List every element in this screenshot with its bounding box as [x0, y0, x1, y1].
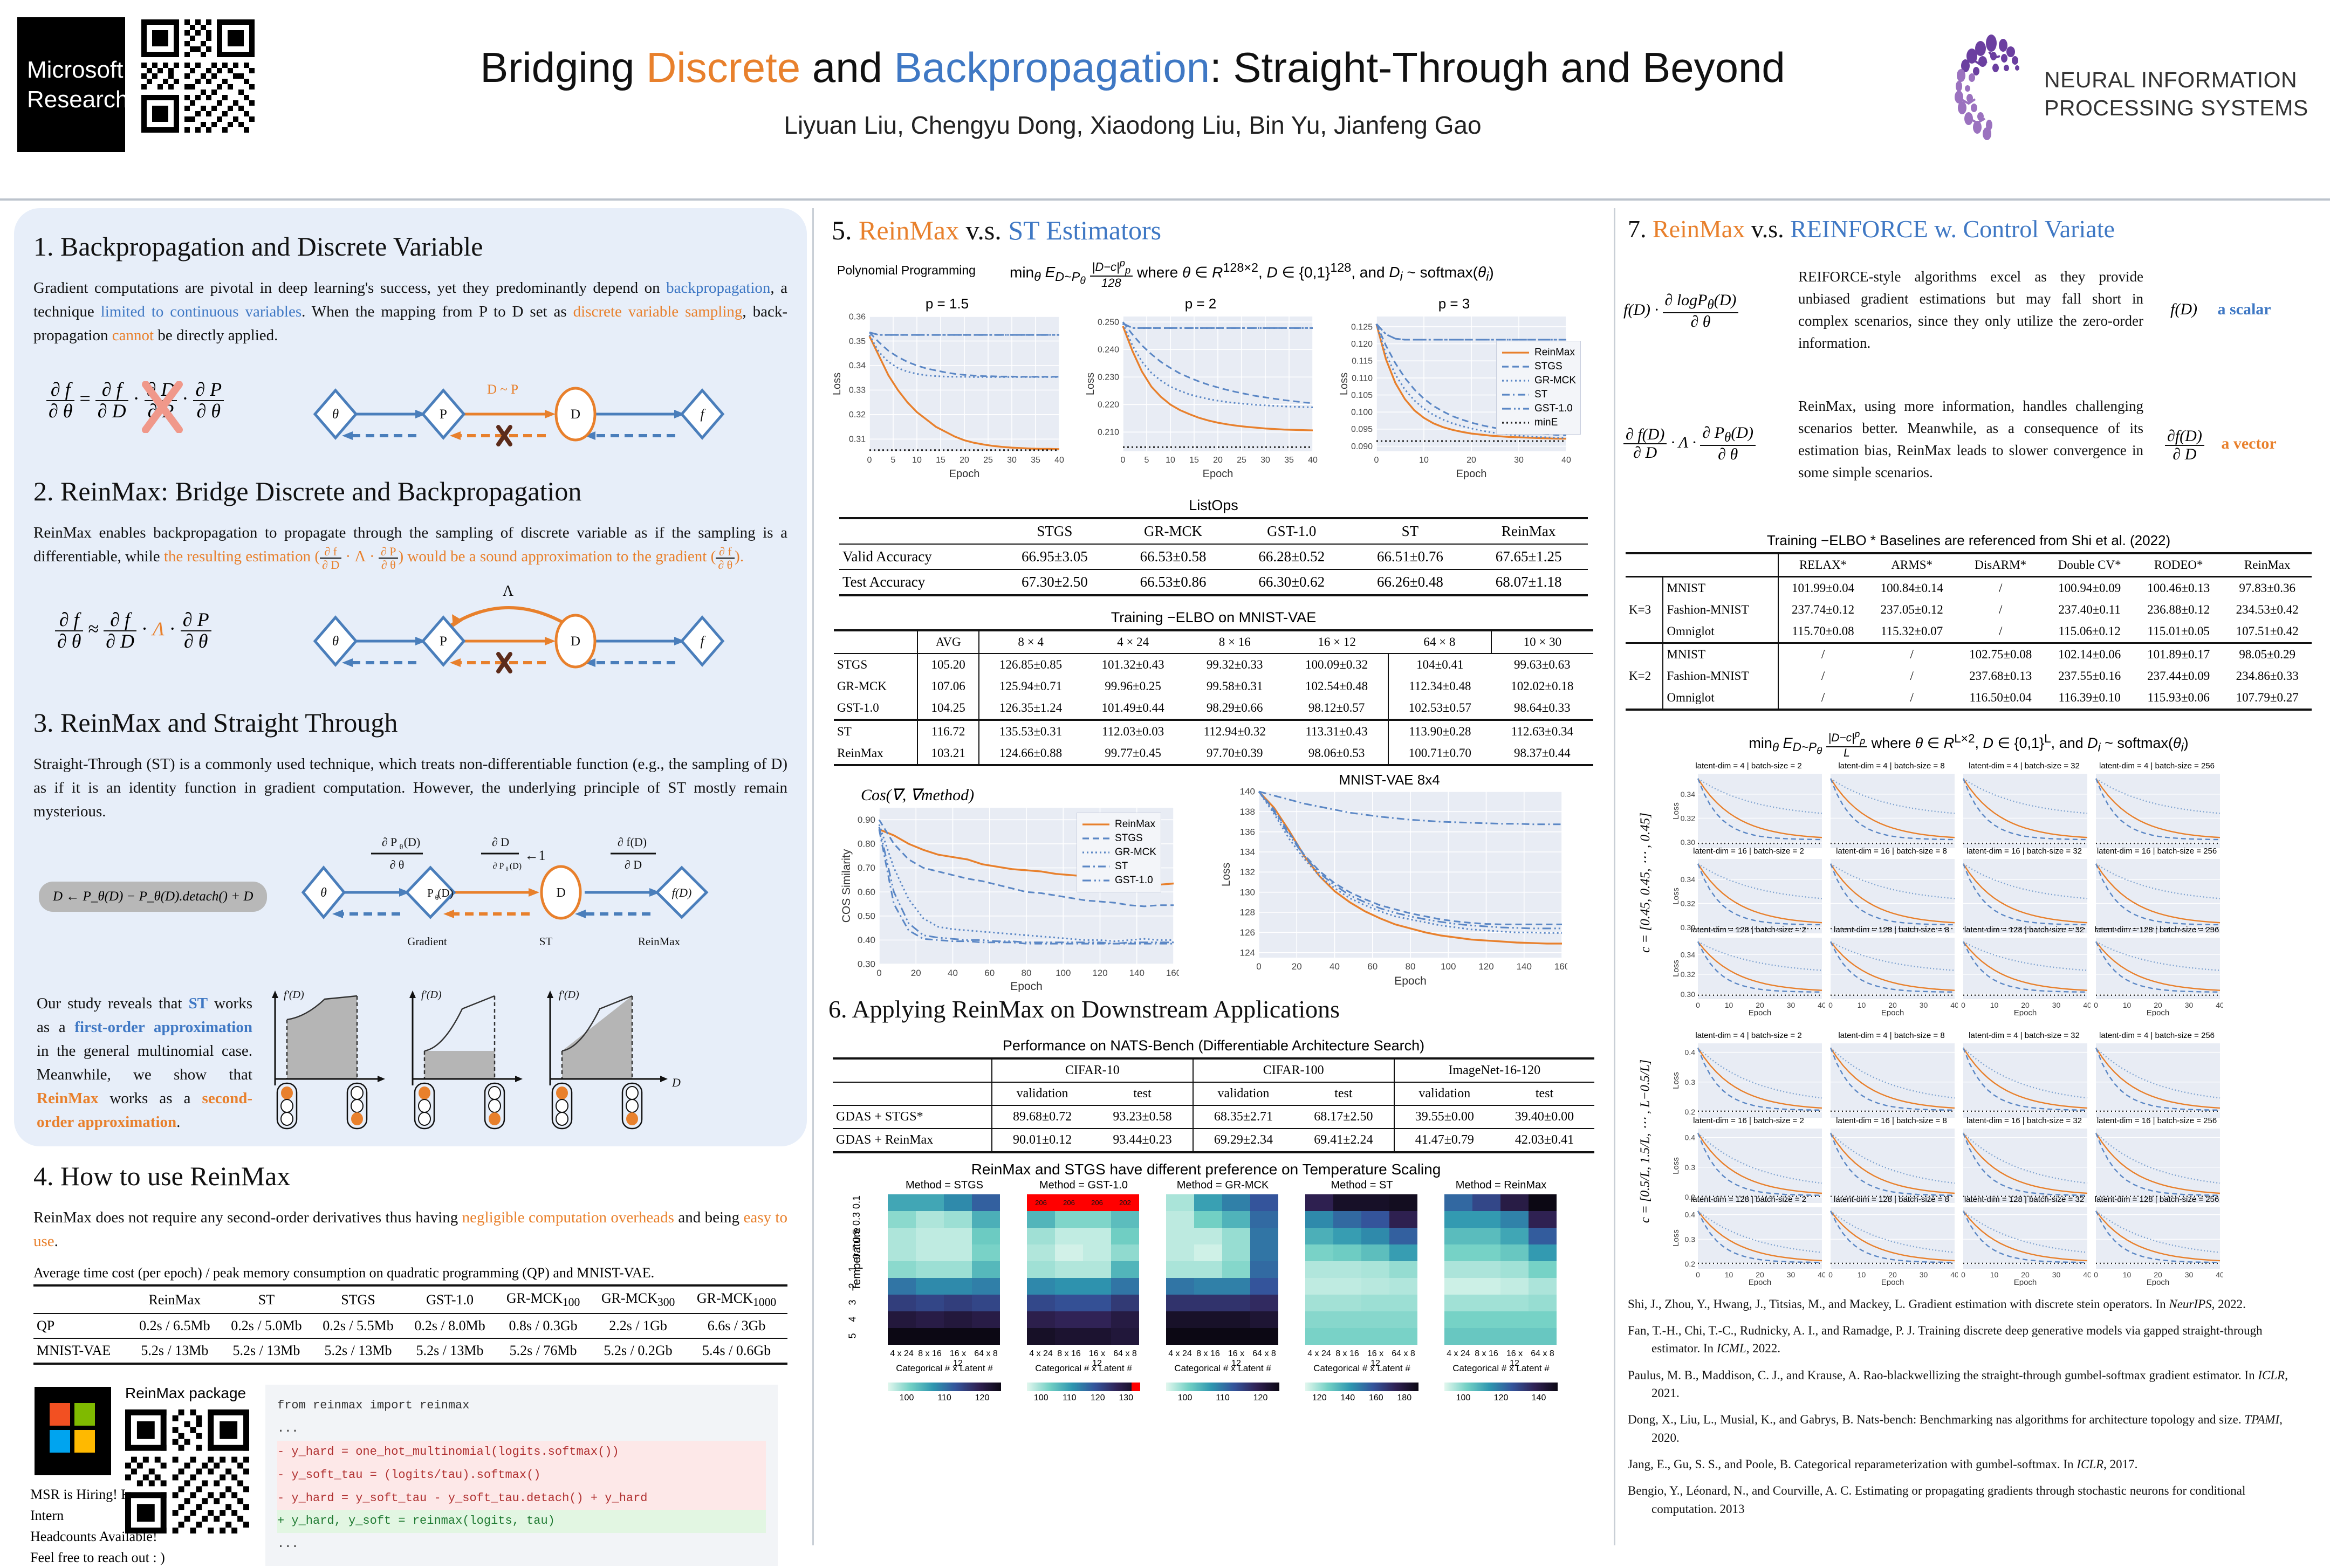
elbo-col-1: AVG	[917, 630, 979, 654]
heatmap-cell-1-8-1	[1055, 1328, 1083, 1345]
legend-item-ReinMax: ReinMax	[1501, 347, 1576, 359]
svg-text:∂ f(D): ∂ f(D)	[618, 835, 647, 849]
s7-col-1	[1663, 553, 1778, 577]
elbo-cell-3-7: 112.63±0.34	[1491, 720, 1593, 742]
svg-text:0.60: 0.60	[858, 887, 875, 897]
chart-title-1: p = 1.5	[828, 295, 1066, 312]
heatmap-cell-3-0-1	[1333, 1194, 1361, 1211]
s3-graph-diagram: ∂ Pθ(D) ∂ θ ∂ D ∂ Pθ(D) ←1 ∂ f(D) ∂ D	[265, 832, 751, 988]
svg-text:10: 10	[1725, 1001, 1733, 1009]
mini-plot-top-0: latent-dim = 4 | batch-size = 20.340.320…	[1672, 761, 1825, 852]
heatmap-cell-3-7-3	[1389, 1311, 1417, 1328]
s7-cell-0-0-6: 97.83±0.36	[2223, 577, 2312, 600]
svg-text:ST: ST	[539, 935, 553, 948]
heatmap-cell-1-4-0	[1027, 1261, 1055, 1278]
s7-cell-0-2-2: 115.32±0.07	[1867, 621, 1956, 643]
mnist-vae-chart: MNIST-VAE 8x4124126128130132134136138140…	[1211, 772, 1567, 987]
cost-cell-0-2: 0.2s / 5.0Mb	[221, 1313, 312, 1338]
heatmap-cell-0-3-1	[916, 1244, 944, 1261]
neurips-wordmark: NEURAL INFORMATION PROCESSING SYSTEMS	[2044, 66, 2308, 122]
legend-label-ST: ST	[1534, 389, 1547, 401]
elbo-cell-4-3: 99.77±0.45	[1082, 742, 1184, 765]
table-row: GDAS + STGS*89.68±0.7293.23±0.5868.35±2.…	[833, 1105, 1594, 1129]
legend-item-ST: ST	[1501, 389, 1576, 401]
heatmap-title: ReinMax and STGS have different preferen…	[818, 1161, 1594, 1178]
references-list: Shi, J., Zhou, Y., Hwang, J., Titsias, M…	[1628, 1295, 2310, 1518]
heatmap-cell-2-6-1	[1194, 1295, 1222, 1311]
heatmap-method-3: Method = ST	[1305, 1179, 1418, 1192]
svg-text:40: 40	[1818, 1001, 1825, 1009]
listops-cell-0-3: 66.28±0.52	[1232, 544, 1351, 569]
legend-label-ReinMax: ReinMax	[1534, 347, 1575, 359]
s7-elbo-block: Training −ELBO * Baselines are reference…	[1626, 532, 2312, 711]
svg-text:10: 10	[1858, 1270, 1866, 1279]
cost-cell-0-4: 0.2s / 8.0Mb	[404, 1313, 496, 1338]
heatmap-xlabel-0: Categorical # x Latent #	[880, 1363, 1009, 1374]
s1-text-e: . When the mapping from P to D set as	[301, 303, 573, 320]
heatmap-cell-3-5-3	[1389, 1278, 1417, 1295]
elbo-cell-4-7: 98.37±0.44	[1491, 742, 1593, 765]
s7-cell-1-0-0: MNIST	[1663, 643, 1778, 666]
svg-text:80: 80	[1022, 968, 1032, 978]
heatmap-ytick-6: 3	[847, 1299, 859, 1305]
chart: 1241261281301321341361381400204060801001…	[1211, 788, 1567, 987]
pp-label: Polynomial Programming	[837, 263, 976, 278]
heatmap-cell-0-7-1	[916, 1311, 944, 1328]
heatmap-cell-4-7-3	[1529, 1311, 1557, 1328]
s2-graph-diagram: Λ θ P D	[282, 583, 756, 683]
cost-col-3: STGS	[312, 1285, 404, 1313]
s1-graph-diagram: θ P D f D ~ P	[282, 367, 756, 464]
s7-col-0	[1626, 553, 1663, 577]
svg-text:40: 40	[2216, 1270, 2223, 1279]
svg-text:0.34: 0.34	[1681, 950, 1695, 959]
s5-st: ST Estimators	[1008, 215, 1161, 245]
heatmap-cell-3-3-0	[1305, 1244, 1333, 1261]
heatmap-cbar-tick-0-0: 100	[888, 1393, 926, 1403]
svg-text:0.105: 0.105	[1351, 391, 1373, 400]
heatmap-cell-3-5-1	[1333, 1278, 1361, 1295]
nats-cell-1-5: 41.47±0.79	[1394, 1129, 1495, 1152]
heatmap-cell-1-1-3	[1111, 1211, 1139, 1228]
heatmap-cbar-tick-4-2: 140	[1520, 1393, 1558, 1403]
heatmap-xtick-0-0: 4 x 24	[888, 1349, 916, 1359]
s7-cell-1-1-2: /	[1867, 665, 1956, 687]
mini-title: latent-dim = 16 | batch-size = 8	[1825, 847, 1958, 856]
section-3-paragraph-2: Our study reveals that ST works as a fir…	[37, 992, 252, 1134]
heatmap-cell-1-8-3	[1111, 1328, 1139, 1345]
mini-plot-bot-0: latent-dim = 4 | batch-size = 20.40.30.2…	[1672, 1031, 1825, 1122]
nats-corner	[833, 1058, 992, 1082]
svg-text:Epoch: Epoch	[2147, 1278, 2170, 1286]
nats-group-0: CIFAR-10	[992, 1058, 1193, 1082]
elbo-col-3: 4 × 24	[1082, 630, 1184, 654]
s7-cell-1-1-3: 237.68±0.13	[1956, 665, 2045, 687]
heatmap-cell-2-7-3	[1250, 1311, 1278, 1328]
heatmap-cell-1-7-0	[1027, 1311, 1055, 1328]
title-seg-2: and	[800, 44, 894, 91]
svg-text:30: 30	[1007, 456, 1017, 465]
s7-grid-formula: minθ ED~Pθ |D−c|ppL where θ ∈ RL×2, D ∈ …	[1620, 729, 2317, 759]
svg-text:30: 30	[2185, 1270, 2194, 1279]
svg-text:40: 40	[948, 968, 958, 978]
heatmap-cbar-tick-3-0: 120	[1305, 1393, 1334, 1403]
s7-col-7: ReinMax	[2223, 553, 2312, 577]
s3-p2-e: .	[176, 1113, 180, 1131]
heatmap-cell-4-1-3	[1529, 1211, 1557, 1228]
svg-text:COS Similarity: COS Similarity	[840, 849, 853, 923]
svg-text:0.090: 0.090	[1351, 442, 1373, 451]
svg-text:0.70: 0.70	[858, 863, 875, 873]
cos-and-vae-charts: Cos(∇, ∇method)0.300.400.500.600.700.800…	[823, 772, 1609, 987]
heatmap-xtick-4-0: 4 x 24	[1444, 1349, 1472, 1359]
column-left: 1. Backpropagation and Discrete Variable…	[14, 208, 807, 1545]
listops-caption: ListOps	[839, 497, 1588, 514]
svg-text:10: 10	[2123, 1270, 2132, 1279]
heatmap-cell-0-0-3	[972, 1194, 1000, 1211]
svg-text:0.110: 0.110	[1352, 374, 1373, 383]
heatmap-cell-1-5-3	[1111, 1278, 1139, 1295]
elbo-cell-1-3: 99.96±0.25	[1082, 676, 1184, 697]
svg-text:126: 126	[1240, 927, 1255, 938]
svg-text:40: 40	[1308, 456, 1318, 465]
heatmap-xtick-1-3: 64 x 8	[1111, 1349, 1139, 1359]
svg-text:15: 15	[936, 456, 945, 465]
svg-text:0.120: 0.120	[1351, 340, 1373, 349]
heatmap-cell-4-3-3	[1529, 1244, 1557, 1261]
table-row: GST-1.0104.25126.35±1.24101.49±0.4498.29…	[834, 697, 1593, 720]
elbo-cell-0-3: 101.32±0.43	[1082, 654, 1184, 676]
table-row: K=2MNIST//102.75±0.08102.14±0.06101.89±0…	[1626, 643, 2312, 666]
mini-plot-bot-11: latent-dim = 128 | batch-size = 25601020…	[2091, 1195, 2223, 1286]
column-right: 7. ReinMax v.s. REINFORCE w. Control Var…	[1620, 208, 2317, 1545]
heatmap-cell-1-0-2: 206	[1083, 1194, 1111, 1211]
svg-text:30: 30	[2052, 1001, 2061, 1009]
s7-cell-0-1-5: 236.88±0.12	[2134, 599, 2223, 621]
cost-col-7: GR-MCK1000	[686, 1285, 787, 1313]
heatmap-cell-4-1-2	[1500, 1211, 1529, 1228]
s7-cell-0-1-3: /	[1956, 599, 2045, 621]
s3-p2-c: in the general multinomial case. Meanwhi…	[37, 1042, 252, 1083]
s7-row-1: f(D) · ∂ logPθ(D)∂ θ REIFORCE-style algo…	[1620, 257, 2317, 392]
cost-col-4: GST-1.0	[404, 1285, 496, 1313]
reinmax-formula: ∂ f(D)∂ D · Λ · ∂ Pθ(D)∂ θ	[1623, 424, 1756, 463]
legend-item-minE: minE	[1501, 417, 1576, 429]
heatmap-cbar-tick-2-2: 120	[1242, 1393, 1279, 1403]
legend-item-ST: ST	[1081, 861, 1156, 872]
heatmap-ytick-3: 0.7	[851, 1246, 862, 1259]
svg-text:100: 100	[1441, 961, 1456, 972]
s7-cell-1-0-3: 102.75±0.08	[1956, 643, 2045, 666]
svg-text:0: 0	[1961, 1270, 1965, 1279]
svg-text:D: D	[671, 1076, 681, 1089]
svg-text:Epoch: Epoch	[1010, 980, 1043, 992]
mini-title: latent-dim = 4 | batch-size = 256	[2091, 761, 2223, 771]
svg-text:Loss: Loss	[1672, 1229, 1681, 1247]
listops-cell-1-1: 67.30±2.50	[996, 569, 1114, 595]
nats-sub-1: test	[1092, 1082, 1193, 1105]
column-divider-2	[1614, 208, 1615, 1545]
mini-chart: 0.40.30.2Loss010203040Epoch	[1672, 1204, 1825, 1286]
heatmap-cell-1-1-0	[1027, 1211, 1055, 1228]
reinmax-package-qr-code[interactable]	[125, 1409, 249, 1533]
polynomial-charts: p = 1.50.310.320.330.340.350.36051015202…	[823, 295, 1609, 490]
svg-text:40: 40	[1950, 1001, 1958, 1009]
svg-text:0: 0	[1828, 1001, 1833, 1009]
heatmap-cell-0-5-3	[972, 1278, 1000, 1295]
heatmap-cell-1-6-0	[1027, 1295, 1055, 1311]
heatmap-cbar-tick-1-3: 130	[1112, 1393, 1141, 1403]
heatmap-cell-2-5-3	[1250, 1278, 1278, 1295]
svg-text:0.32: 0.32	[1681, 899, 1695, 907]
heatmap-cell-1-0-1: 206	[1055, 1194, 1083, 1211]
svg-text:0.30: 0.30	[858, 959, 875, 969]
svg-text:Epoch: Epoch	[1881, 1008, 1904, 1016]
polynomial-chart-1: p = 1.50.310.320.330.340.350.36051015202…	[828, 295, 1066, 479]
heatmap-cell-2-0-0	[1166, 1194, 1194, 1211]
heatmap-cell-2-8-2	[1222, 1328, 1250, 1345]
svg-text:60: 60	[984, 968, 995, 978]
s7-cell-0-0-3: /	[1956, 577, 2045, 600]
legend-label-GST-1.0: GST-1.0	[1115, 875, 1153, 886]
svg-text:0.80: 0.80	[858, 839, 875, 849]
table-row: ST116.72135.53±0.31112.03±0.03112.94±0.3…	[834, 720, 1593, 742]
svg-text:0.30: 0.30	[1681, 989, 1695, 998]
cost-col-6: GR-MCK300	[591, 1285, 686, 1313]
heatmap-cell-0-8-0	[888, 1328, 916, 1345]
s7-cell-0-0-1: 101.99±0.04	[1778, 577, 1868, 600]
elbo-cell-3-4: 112.94±0.32	[1184, 720, 1285, 742]
heatmap-cell-0-4-3	[972, 1261, 1000, 1278]
heatmap-cell-0-2-0	[888, 1228, 916, 1244]
mini-title: latent-dim = 16 | batch-size = 8	[1825, 1116, 1958, 1125]
heatmap-cell-4-7-1	[1472, 1311, 1500, 1328]
listops-cell-1-2: 66.53±0.86	[1114, 569, 1232, 595]
svg-text:0.220: 0.220	[1098, 401, 1119, 410]
code-snippet[interactable]: from reinmax import reinmax...- y_hard =…	[265, 1385, 778, 1566]
heatmap-cell-2-4-3	[1250, 1261, 1278, 1278]
mini-title: latent-dim = 16 | batch-size = 256	[2091, 1116, 2223, 1125]
nats-cell-0-0: GDAS + STGS*	[833, 1105, 992, 1129]
svg-text:Epoch: Epoch	[2014, 1008, 2037, 1016]
mini-plot-bot-1: latent-dim = 4 | batch-size = 8	[1825, 1031, 1958, 1122]
mini-chart	[1958, 771, 2091, 852]
svg-text:0.240: 0.240	[1098, 346, 1119, 355]
listops-cell-1-5: 68.07±1.18	[1469, 569, 1588, 595]
svg-text:0: 0	[1961, 1001, 1965, 1009]
table-row: K=3MNIST101.99±0.04100.84±0.14/100.94±0.…	[1626, 577, 2312, 600]
svg-text:124: 124	[1240, 947, 1255, 958]
svg-text:160: 160	[1554, 961, 1567, 972]
chart: 0.2100.2200.2300.2400.250051015202530354…	[1082, 312, 1319, 479]
cost-cell-1-5: 5.2s / 76Mb	[496, 1338, 591, 1364]
svg-text:30: 30	[1787, 1001, 1796, 1009]
mini-title: latent-dim = 4 | batch-size = 8	[1825, 1031, 1958, 1040]
svg-text:0: 0	[867, 456, 872, 465]
cost-cell-0-5: 0.8s / 0.3Gb	[496, 1313, 591, 1338]
s1-text-sampling: discrete variable sampling	[573, 303, 743, 320]
cost-col-2: ST	[221, 1285, 312, 1313]
mini-title: latent-dim = 16 | batch-size = 256	[2091, 847, 2223, 856]
polynomial-programming-line: Polynomial Programming minθ ED~Pθ |D−c|p…	[832, 260, 1609, 295]
mini-plot-top-2: latent-dim = 4 | batch-size = 32	[1958, 761, 2091, 852]
svg-text:∂ θ: ∂ θ	[390, 858, 405, 871]
reference-3: Dong, X., Liu, L., Musial, K., and Gabry…	[1628, 1411, 2310, 1447]
svg-text:(D): (D)	[404, 835, 421, 849]
elbo-col-4: 8 × 16	[1184, 630, 1285, 654]
code-line-4: - y_hard = y_soft_tau - y_soft_tau.detac…	[277, 1487, 766, 1510]
s3-p2-st: ST	[189, 995, 208, 1012]
heatmap-cell-4-2-3	[1529, 1228, 1557, 1244]
heatmap-cell-1-4-2	[1083, 1261, 1111, 1278]
heatmap-cell-1-4-3	[1111, 1261, 1139, 1278]
table-row: Fashion-MNIST//237.68±0.13237.55±0.16237…	[1626, 665, 2312, 687]
legend-swatch-ST	[1081, 864, 1111, 869]
heatmap-cbar-red-1	[1132, 1383, 1140, 1391]
svg-text:20: 20	[911, 968, 921, 978]
heatmap-cell-2-6-0	[1166, 1295, 1194, 1311]
s5-vs: v.s.	[959, 215, 1008, 245]
svg-text:∂ P: ∂ P	[382, 835, 398, 849]
heatmap-cell-1-1-1	[1055, 1211, 1083, 1228]
s7-reinmax: ReinMax	[1653, 215, 1745, 243]
neurips-logo: NEURAL INFORMATION PROCESSING SYSTEMS	[1942, 32, 2308, 162]
svg-text:D ~ P: D ~ P	[487, 382, 518, 397]
mini-chart: 010203040Epoch	[1825, 934, 1958, 1016]
s7-group-k-0: K=3	[1626, 577, 1663, 643]
heatmap-cell-3-5-0	[1305, 1278, 1333, 1295]
svg-text:0.33: 0.33	[849, 386, 866, 395]
heatmap-ytick-0: 0.1	[851, 1195, 862, 1209]
table-row: QP0.2s / 6.5Mb0.2s / 5.0Mb0.2s / 5.5Mb0.…	[33, 1313, 787, 1338]
elbo-cell-3-6: 113.90±0.28	[1388, 720, 1491, 742]
heatmap-cell-0-0-1	[916, 1194, 944, 1211]
elbo-cell-2-2: 126.35±1.24	[979, 697, 1082, 720]
svg-text:f'(D): f'(D)	[559, 989, 579, 1001]
nats-cell-1-1: 90.01±0.12	[992, 1129, 1092, 1152]
svg-text:Loss: Loss	[831, 373, 843, 395]
s7-cell-1-1-4: 237.55±0.16	[2045, 665, 2134, 687]
s7-cell-1-1-0: Fashion-MNIST	[1663, 665, 1778, 687]
heatmap-cell-4-5-3	[1529, 1278, 1557, 1295]
heatmap-cell-2-8-3	[1250, 1328, 1278, 1345]
mini-title: latent-dim = 4 | batch-size = 32	[1958, 1031, 2091, 1040]
heatmap-cell-3-5-2	[1361, 1278, 1389, 1295]
s7-cell-1-2-0: Omniglot	[1663, 687, 1778, 710]
heatmap-xtick-3-3: 64 x 8	[1389, 1349, 1417, 1359]
code-line-0: from reinmax import reinmax	[277, 1394, 766, 1418]
header-divider	[0, 198, 2330, 201]
heatmap-cell-1-7-3	[1111, 1311, 1139, 1328]
elbo-cell-0-1: 105.20	[917, 654, 979, 676]
elbo-cell-4-5: 98.06±0.53	[1285, 742, 1388, 765]
elbo-cell-2-1: 104.25	[917, 697, 979, 720]
svg-text:30: 30	[1920, 1001, 1928, 1009]
mini-plot-bot-2: latent-dim = 4 | batch-size = 32	[1958, 1031, 2091, 1122]
svg-text:P: P	[440, 407, 447, 422]
elbo-cell-4-0: ReinMax	[834, 742, 917, 765]
heatmap-cell-0-4-0	[888, 1261, 916, 1278]
heatmap-cell-3-8-1	[1333, 1328, 1361, 1345]
code-line-5: + y_hard, y_soft = reinmax(logits, tau)	[277, 1510, 766, 1533]
svg-text:5: 5	[1145, 456, 1149, 465]
nats-cell-1-6: 42.03±0.41	[1495, 1129, 1594, 1152]
heatmap-cell-0-1-0	[888, 1211, 916, 1228]
legend-item-GST-1.0: GST-1.0	[1081, 875, 1156, 886]
elbo-cell-2-6: 102.53±0.57	[1388, 697, 1491, 720]
heatmap-cell-3-8-2	[1361, 1328, 1389, 1345]
mini-plot-top-10: latent-dim = 128 | batch-size = 32010203…	[1958, 925, 2091, 1016]
legend-swatch-ReinMax	[1081, 822, 1111, 827]
listops-col-2: GR-MCK	[1114, 518, 1232, 544]
svg-text:80: 80	[1406, 961, 1416, 972]
scalar-tag: a scalar	[2217, 300, 2271, 318]
svg-text:0.100: 0.100	[1351, 408, 1373, 417]
nats-cell-0-4: 68.17±2.50	[1293, 1105, 1394, 1129]
svg-text:140: 140	[1240, 788, 1255, 797]
elbo-cell-3-1: 116.72	[917, 720, 979, 742]
svg-text:40: 40	[1950, 1270, 1958, 1279]
table-row: MNIST-VAE5.2s / 13Mb5.2s / 13Mb5.2s / 13…	[33, 1338, 787, 1364]
svg-text:130: 130	[1240, 887, 1255, 897]
mini-title: latent-dim = 4 | batch-size = 32	[1958, 761, 2091, 771]
section-3-heading: 3. ReinMax and Straight Through	[33, 707, 787, 738]
nats-sub-4: validation	[1394, 1082, 1495, 1105]
heatmap-cell-4-5-2	[1500, 1278, 1529, 1295]
heatmap-cbar-tick-1-2: 120	[1084, 1393, 1112, 1403]
heatmap-ytick-2: 0.5	[851, 1229, 862, 1242]
s7-cell-1-2-4: 116.39±0.10	[2045, 687, 2134, 710]
reference-2: Paulus, M. B., Maddison, C. J., and Krau…	[1628, 1366, 2310, 1402]
svg-text:0.230: 0.230	[1098, 373, 1119, 382]
heatmap-cell-3-2-1	[1333, 1228, 1361, 1244]
s3-p2-d: works as a	[98, 1090, 202, 1107]
mini-title: latent-dim = 4 | batch-size = 2	[1672, 1031, 1825, 1040]
svg-text:θ: θ	[320, 886, 327, 900]
cost-cell-1-3: 5.2s / 13Mb	[312, 1338, 404, 1364]
heatmap-cell-4-8-2	[1500, 1328, 1529, 1345]
cost-cell-1-6: 5.2s / 0.2Gb	[591, 1338, 686, 1364]
elbo-table: AVG8 × 44 × 248 × 1616 × 1264 × 810 × 30…	[834, 629, 1593, 766]
svg-text:0.36: 0.36	[849, 312, 866, 321]
legend-item-GR-MCK: GR-MCK	[1501, 375, 1576, 387]
heatmap-cell-0-7-2	[944, 1311, 972, 1328]
heatmap-cell-0-7-0	[888, 1311, 916, 1328]
heatmap-cbar-tick-3-3: 180	[1390, 1393, 1419, 1403]
paper-qr-code[interactable]	[141, 19, 255, 133]
s7-cell-0-1-0: Fashion-MNIST	[1663, 599, 1778, 621]
svg-text:25: 25	[983, 456, 993, 465]
nats-group-1: CIFAR-100	[1193, 1058, 1394, 1082]
mini-plot-top-8: latent-dim = 128 | batch-size = 20.340.3…	[1672, 925, 1825, 1016]
svg-text:Epoch: Epoch	[949, 468, 980, 479]
heatmap-cell-3-8-0	[1305, 1328, 1333, 1345]
svg-text:10: 10	[1990, 1270, 1999, 1279]
title-seg-3: : Straight-Through and Beyond	[1210, 44, 1785, 91]
s7-cell-1-2-3: 116.50±0.04	[1956, 687, 2045, 710]
heatmap-cell-3-3-3	[1389, 1244, 1417, 1261]
mini-title: latent-dim = 16 | batch-size = 32	[1958, 847, 2091, 856]
s7-cell-1-0-1: /	[1778, 643, 1868, 666]
heatmap-cell-1-0-3: 202	[1111, 1194, 1139, 1211]
heatmap-cell-4-6-1	[1472, 1295, 1500, 1311]
s4-text-e: .	[54, 1233, 58, 1250]
svg-text:Epoch: Epoch	[1749, 1278, 1772, 1286]
s7-cell-0-2-1: 115.70±0.08	[1778, 621, 1868, 643]
heatmap-cell-2-8-1	[1194, 1328, 1222, 1345]
heatmap-cell-3-6-1	[1333, 1295, 1361, 1311]
heatmap-cell-3-4-1	[1333, 1261, 1361, 1278]
